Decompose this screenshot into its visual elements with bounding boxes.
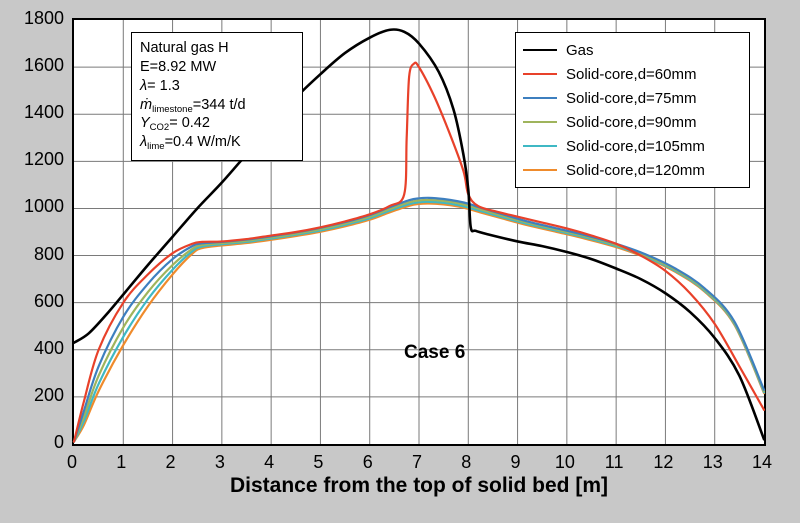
mdot-symbol: ṁ <box>140 97 152 113</box>
annotation-line-4: ṁlimestone=344 t/d <box>140 96 294 115</box>
plot-area: Natural gas H E=8.92 MW λ= 1.3 ṁlimeston… <box>72 18 766 446</box>
x-tick-label: 4 <box>249 452 289 473</box>
case-label: Case 6 <box>404 342 465 364</box>
legend-color-swatch <box>523 169 557 171</box>
lambda-value: = 1.3 <box>147 78 180 94</box>
x-tick-label: 10 <box>545 452 585 473</box>
mdot-subscript: limestone <box>152 104 193 115</box>
legend-item-label: Gas <box>566 42 594 59</box>
legend-color-swatch <box>523 145 557 147</box>
chart-root: Temperature [°C] Distance from the top o… <box>0 0 800 523</box>
legend-item-label: Solid-core,d=60mm <box>566 66 696 83</box>
x-tick-label: 8 <box>446 452 486 473</box>
x-tick-label: 11 <box>594 452 634 473</box>
y-tick-label: 800 <box>4 245 64 263</box>
x-tick-label: 6 <box>348 452 388 473</box>
legend-item-label: Solid-core,d=75mm <box>566 90 696 107</box>
annotation-box: Natural gas H E=8.92 MW λ= 1.3 ṁlimeston… <box>131 32 303 161</box>
x-tick-label: 1 <box>101 452 141 473</box>
lambda-lime-subscript: lime <box>147 141 164 152</box>
y-tick-label: 1600 <box>4 56 64 74</box>
legend-item-label: Solid-core,d=105mm <box>566 138 705 155</box>
annotation-line-6: λlime=0.4 W/m/K <box>140 133 294 152</box>
legend-color-swatch <box>523 73 557 75</box>
x-tick-label: 5 <box>298 452 338 473</box>
yco2-subscript: CO <box>150 122 164 133</box>
legend-color-swatch <box>523 97 557 99</box>
y-tick-label: 1200 <box>4 150 64 168</box>
legend-item-label: Solid-core,d=90mm <box>566 114 696 131</box>
x-tick-label: 7 <box>397 452 437 473</box>
y-tick-label: 600 <box>4 292 64 310</box>
y-tick-label: 200 <box>4 386 64 404</box>
y-tick-label: 1800 <box>4 9 64 27</box>
y-tick-label: 1000 <box>4 197 64 215</box>
x-tick-label: 14 <box>742 452 782 473</box>
legend-item-label: Solid-core,d=120mm <box>566 162 705 179</box>
legend: GasSolid-core,d=60mmSolid-core,d=75mmSol… <box>515 32 750 188</box>
yco2-value: = 0.42 <box>169 115 210 131</box>
legend-item: Solid-core,d=90mm <box>523 110 742 134</box>
legend-item: Solid-core,d=75mm <box>523 86 742 110</box>
y-tick-label: 400 <box>4 339 64 357</box>
annotation-line-3: λ= 1.3 <box>140 77 294 96</box>
legend-color-swatch <box>523 49 557 51</box>
legend-item: Gas <box>523 38 742 62</box>
legend-item: Solid-core,d=60mm <box>523 62 742 86</box>
x-tick-label: 12 <box>643 452 683 473</box>
y-tick-label: 1400 <box>4 103 64 121</box>
x-tick-label: 9 <box>496 452 536 473</box>
x-tick-label: 0 <box>52 452 92 473</box>
x-tick-label: 2 <box>151 452 191 473</box>
x-tick-label: 13 <box>693 452 733 473</box>
x-axis-title: Distance from the top of solid bed [m] <box>72 474 766 498</box>
annotation-line-2: E=8.92 MW <box>140 58 294 77</box>
yco2-symbol: Y <box>140 115 150 131</box>
yco2-subscript-2: 2 <box>164 122 169 133</box>
mdot-value: =344 t/d <box>193 97 246 113</box>
lambda-lime-value: =0.4 W/m/K <box>165 134 241 150</box>
y-tick-label: 0 <box>4 433 64 451</box>
annotation-line-1: Natural gas H <box>140 39 294 58</box>
annotation-line-5: YCO2= 0.42 <box>140 114 294 133</box>
legend-item: Solid-core,d=120mm <box>523 158 742 182</box>
x-tick-label: 3 <box>200 452 240 473</box>
legend-item: Solid-core,d=105mm <box>523 134 742 158</box>
legend-color-swatch <box>523 121 557 123</box>
